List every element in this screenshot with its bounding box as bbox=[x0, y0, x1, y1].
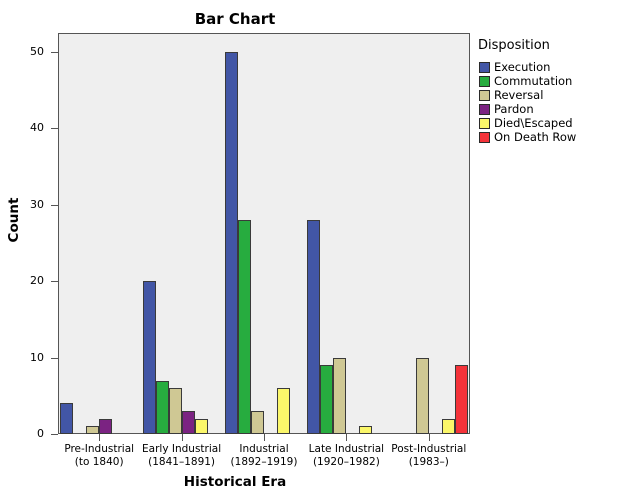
x-tick-mark bbox=[99, 434, 100, 441]
legend-item[interactable]: Reversal bbox=[479, 88, 576, 102]
y-axis-title: Count bbox=[6, 120, 22, 320]
legend-item-label: Died\Escaped bbox=[494, 116, 573, 130]
bar bbox=[60, 403, 73, 434]
y-tick-mark bbox=[51, 281, 58, 282]
legend-swatch-icon bbox=[479, 76, 490, 87]
bar bbox=[320, 365, 333, 434]
legend-swatch-icon bbox=[479, 132, 490, 143]
x-tick-label: Post-Industrial(1983–) bbox=[370, 443, 488, 469]
legend-item[interactable]: Pardon bbox=[479, 102, 576, 116]
x-tick-mark bbox=[182, 434, 183, 441]
legend-item-label: On Death Row bbox=[494, 130, 576, 144]
y-tick-label: 50 bbox=[10, 45, 44, 58]
legend-items: ExecutionCommutationReversalPardonDied\E… bbox=[479, 60, 576, 144]
bar bbox=[86, 426, 99, 434]
bar bbox=[99, 419, 112, 434]
legend-item-label: Execution bbox=[494, 60, 550, 74]
x-tick-label-line: Post-Industrial bbox=[370, 443, 488, 456]
chart-root: Bar Chart 01020304050 Pre-Industrial(to … bbox=[0, 0, 626, 501]
legend-item-label: Commutation bbox=[494, 74, 572, 88]
page-title: Bar Chart bbox=[0, 10, 470, 28]
bar bbox=[442, 419, 455, 434]
bar bbox=[169, 388, 182, 434]
y-tick-mark bbox=[51, 205, 58, 206]
legend-item-label: Reversal bbox=[494, 88, 543, 102]
bar bbox=[307, 220, 320, 434]
legend-swatch-icon bbox=[479, 104, 490, 115]
y-tick-mark bbox=[51, 358, 58, 359]
legend-item[interactable]: Execution bbox=[479, 60, 576, 74]
bar bbox=[333, 358, 346, 434]
legend: Disposition ExecutionCommutationReversal… bbox=[470, 33, 626, 434]
bar bbox=[455, 365, 468, 434]
legend-item[interactable]: Commutation bbox=[479, 74, 576, 88]
y-tick-mark bbox=[51, 434, 58, 435]
x-axis-title: Historical Era bbox=[0, 474, 470, 490]
x-tick-mark bbox=[264, 434, 265, 441]
x-tick-mark bbox=[346, 434, 347, 441]
y-tick-mark bbox=[51, 52, 58, 53]
bar bbox=[225, 52, 238, 434]
bars-layer bbox=[58, 33, 470, 434]
legend-swatch-icon bbox=[479, 90, 490, 101]
legend-title: Disposition bbox=[478, 38, 550, 53]
legend-item[interactable]: On Death Row bbox=[479, 130, 576, 144]
bar bbox=[359, 426, 372, 434]
bar bbox=[238, 220, 251, 434]
bar bbox=[277, 388, 290, 434]
y-tick-mark bbox=[51, 128, 58, 129]
y-tick-label: 0 bbox=[10, 427, 44, 440]
bar bbox=[416, 358, 429, 434]
legend-swatch-icon bbox=[479, 62, 490, 73]
legend-item[interactable]: Died\Escaped bbox=[479, 116, 576, 130]
x-tick-mark bbox=[429, 434, 430, 441]
bar bbox=[182, 411, 195, 434]
legend-item-label: Pardon bbox=[494, 102, 534, 116]
legend-swatch-icon bbox=[479, 118, 490, 129]
bar bbox=[143, 281, 156, 434]
bar bbox=[251, 411, 264, 434]
y-tick-label: 10 bbox=[10, 351, 44, 364]
bar bbox=[195, 419, 208, 434]
bar bbox=[156, 381, 169, 434]
x-tick-label-line: (1983–) bbox=[370, 456, 488, 469]
